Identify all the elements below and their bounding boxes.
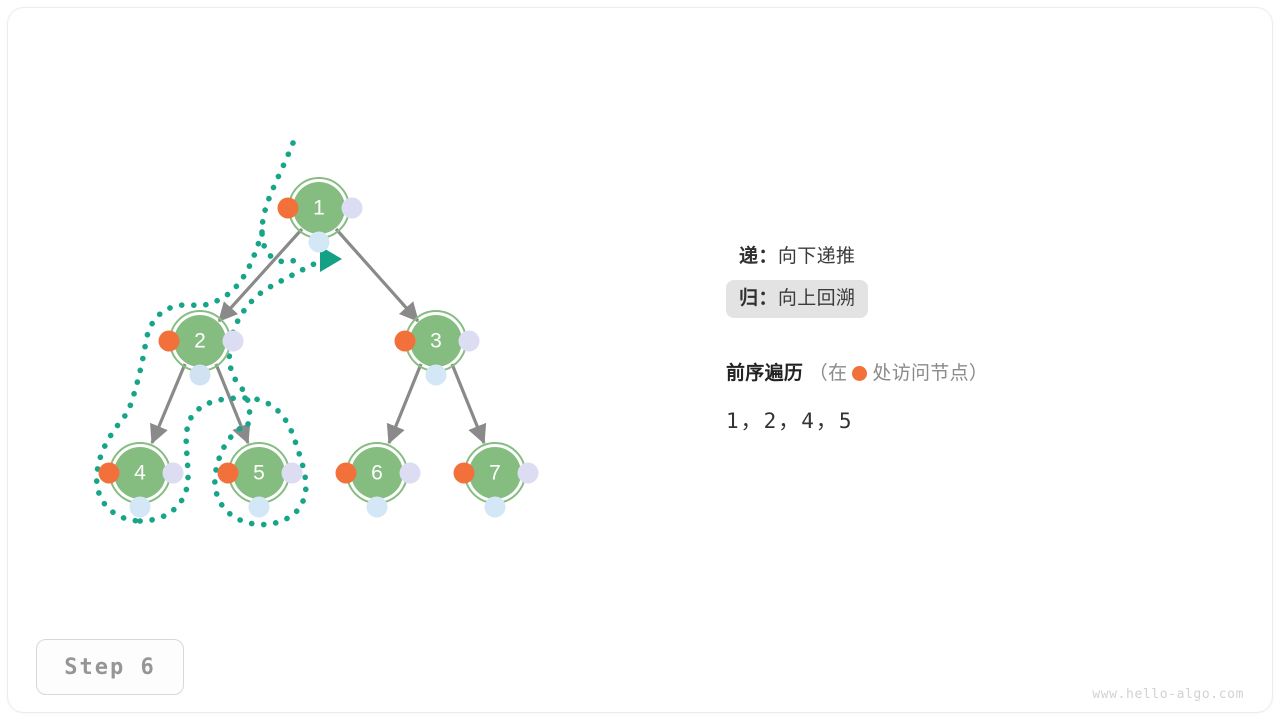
tree-node-3[interactable]: 3 [395, 311, 480, 386]
node-bottom-dot-icon [130, 497, 151, 518]
node-bottom-dot-icon [485, 497, 506, 518]
edge-3-7 [452, 364, 484, 443]
node-right-dot-icon [518, 463, 539, 484]
node-label: 7 [489, 462, 501, 485]
legend-item-return-label: 归： [739, 288, 778, 309]
node-label: 5 [253, 462, 265, 485]
node-visit-dot-icon [99, 463, 120, 484]
legend-item-recurse-text: 向下递推 [778, 246, 856, 267]
traversal-type-label: 前序遍历 [726, 363, 803, 384]
traversal-sequence: 1，2，4，5 [726, 405, 1206, 435]
node-right-dot-icon [223, 331, 244, 352]
node-visit-dot-icon [159, 331, 180, 352]
tree-node-2[interactable]: 2 [159, 311, 244, 386]
legend-item-return: 归：向上回溯 [726, 280, 868, 318]
visualization-canvas: 1 2 3 4 [0, 0, 1280, 720]
node-right-dot-icon [459, 331, 480, 352]
node-bottom-dot-icon [426, 365, 447, 386]
traversal-paren-open: （在 [809, 363, 848, 384]
edge-3-6 [389, 364, 421, 443]
traversal-paren-close: 处访问节点） [872, 363, 988, 384]
node-visit-dot-icon [278, 198, 299, 219]
node-visit-dot-icon [218, 463, 239, 484]
site-watermark: www.hello-algo.com [1092, 687, 1244, 702]
node-visit-dot-icon [336, 463, 357, 484]
node-label: 3 [430, 330, 442, 353]
node-right-dot-icon [400, 463, 421, 484]
node-right-dot-icon [282, 463, 303, 484]
edge-1-3 [336, 229, 418, 321]
legend-item-return-text: 向上回溯 [778, 288, 856, 309]
node-label: 4 [134, 462, 146, 485]
tree-node-7[interactable]: 7 [454, 443, 539, 518]
node-right-dot-icon [163, 463, 184, 484]
node-bottom-dot-icon [249, 497, 270, 518]
traversal-title: 前序遍历 （在处访问节点） [726, 358, 1206, 385]
node-right-dot-icon [342, 198, 363, 219]
legend-item-recurse: 递：向下递推 [726, 238, 868, 276]
edge-2-4 [152, 364, 185, 443]
node-bottom-dot-icon [367, 497, 388, 518]
recursion-legend: 递：向下递推 归：向上回溯 [726, 238, 1156, 318]
node-visit-dot-icon [454, 463, 475, 484]
node-label: 1 [313, 197, 325, 220]
node-label: 6 [371, 462, 383, 485]
step-badge: Step 6 [36, 639, 184, 695]
node-label: 2 [194, 330, 206, 353]
tree-node-6[interactable]: 6 [336, 443, 421, 518]
tree-node-4[interactable]: 4 [99, 443, 184, 518]
node-visit-dot-icon [395, 331, 416, 352]
orange-dot-icon [852, 366, 867, 381]
legend-item-recurse-label: 递： [739, 246, 778, 267]
node-bottom-dot-icon [190, 365, 211, 386]
edge-2-5 [216, 364, 248, 443]
tree-node-5[interactable]: 5 [218, 443, 303, 518]
traversal-result-block: 前序遍历 （在处访问节点） 1，2，4，5 [726, 358, 1206, 435]
node-bottom-dot-icon [309, 232, 330, 253]
